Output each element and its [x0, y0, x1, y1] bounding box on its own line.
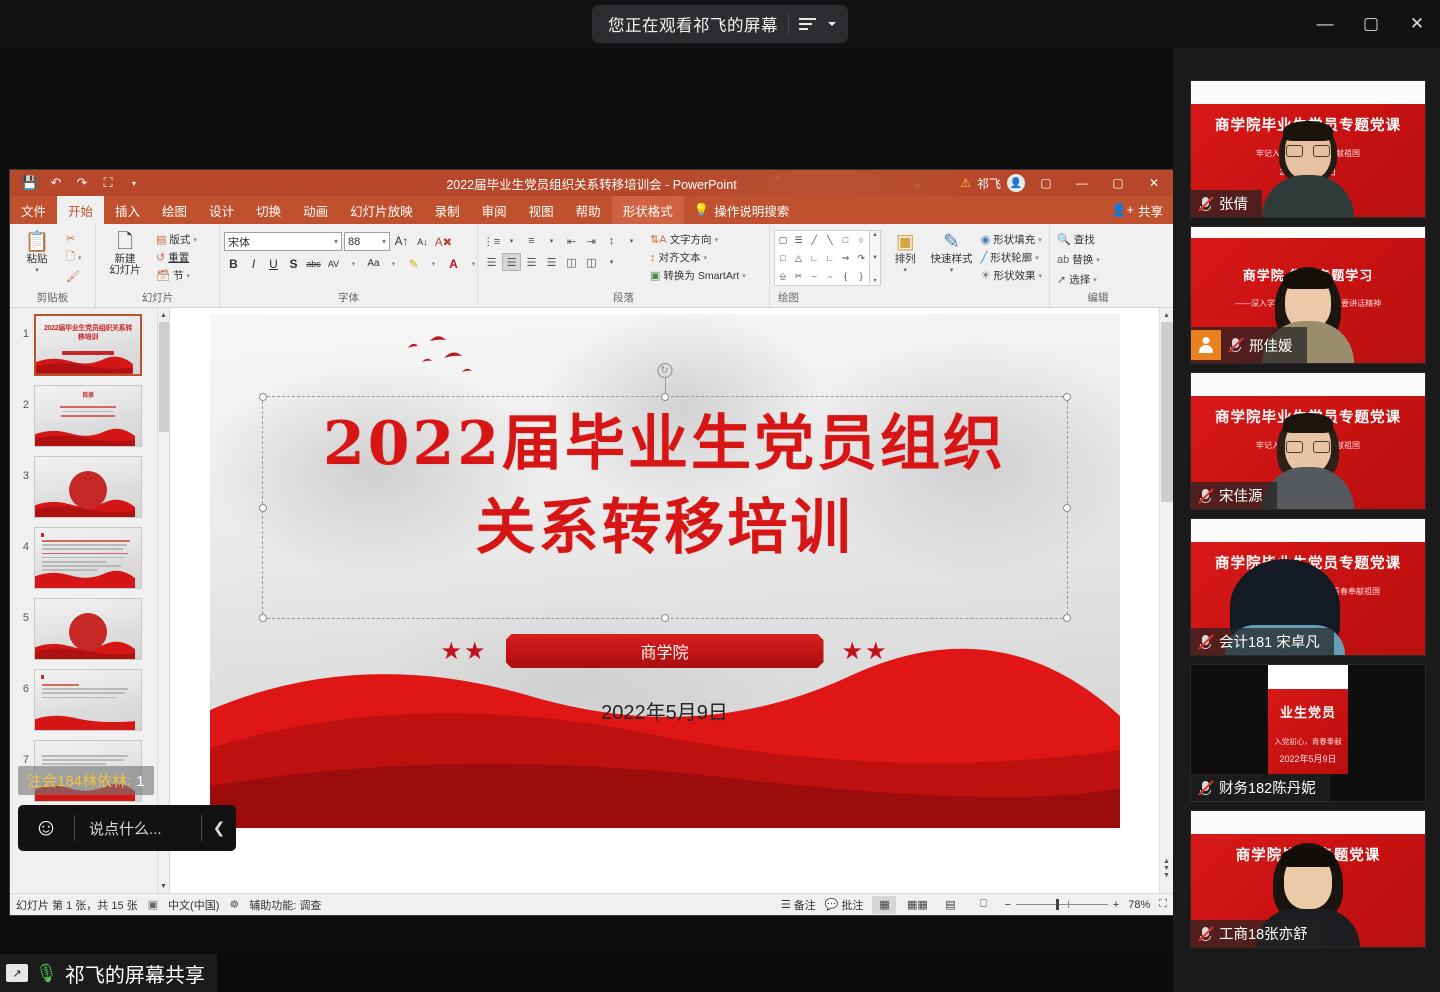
- find-label: 查找: [1074, 232, 1095, 247]
- tab-animations[interactable]: 动画: [292, 196, 339, 224]
- rotate-handle-icon[interactable]: ↻: [657, 363, 672, 378]
- participant-label: 财务182陈丹妮: [1191, 774, 1330, 801]
- share-person-icon: 👤+: [1111, 203, 1134, 218]
- zoom-top-bar: 您正在观看祁飞的屏幕 — ▢ ✕: [0, 0, 1440, 48]
- section-icon: 🗃: [156, 269, 170, 282]
- resize-handle-nw[interactable]: [259, 393, 267, 401]
- ribbon-display-options-icon[interactable]: ▢: [1031, 170, 1061, 196]
- shape-rect-icon[interactable]: □: [843, 235, 848, 245]
- change-case-button[interactable]: Aa: [364, 254, 383, 273]
- participant-tile[interactable]: 商学院 集中专题学习 ——深入学习 大学考察时的重要讲话精神 邢佳媛: [1190, 226, 1426, 364]
- bg-slide-sub: 入党初心，青春奉献: [1268, 736, 1348, 747]
- shadow-button[interactable]: S: [284, 254, 303, 273]
- participant-tile[interactable]: 商学院毕业 专题党课 牢记入党 祖国 2 工商18张亦舒: [1190, 810, 1426, 948]
- shape-rect2-icon[interactable]: □: [780, 253, 785, 263]
- mute-microphone-icon: [1197, 779, 1213, 797]
- shape-oval-icon[interactable]: ○: [858, 235, 863, 245]
- zoom-level-label[interactable]: 78%: [1128, 899, 1150, 911]
- bg-slide-date: 2022年5月9日: [1268, 752, 1348, 765]
- participant-video-strip: 商学院毕业生党员专题党课 牢记入党初心，青春奉献祖国 2022年5月9日 张倩: [1173, 48, 1440, 992]
- shape-arc-icon[interactable]: ⌣: [811, 271, 817, 282]
- arrange-label: 排列: [895, 254, 916, 265]
- quick-styles-icon: ✎: [943, 231, 960, 253]
- thumb-heading-marker: [41, 675, 44, 679]
- participant-name: 会计181 宋卓凡: [1219, 631, 1320, 652]
- copy-button[interactable]: 🗋▾: [63, 247, 84, 268]
- layout-icon: ▤: [156, 233, 166, 246]
- zoom-track[interactable]: [1016, 904, 1108, 905]
- search-icon: 🔍: [1057, 233, 1071, 246]
- powerpoint-window: 💾 ↶ ↷ ⛶ ▾ 2022届毕业生党员组织关系转移培训会 - PowerPoi…: [10, 170, 1173, 915]
- resize-handle-ne[interactable]: [1063, 393, 1071, 401]
- notes-label: 备注: [794, 897, 816, 913]
- quick-styles-label: 快速样式: [930, 254, 972, 265]
- ribbon: 📋 粘贴 ▾ ✂ 🗋▾ 🖌 剪贴板: [10, 224, 1173, 308]
- slide-count-label: 幻灯片 第 1 张，共 15 张: [16, 897, 138, 913]
- font-size-combobox[interactable]: 88 ▾: [344, 232, 390, 251]
- arrange-icon: ▣: [896, 231, 915, 253]
- viewing-screen-pill[interactable]: 您正在观看祁飞的屏幕: [592, 5, 848, 43]
- start-presentation-icon[interactable]: ⛶: [96, 173, 120, 193]
- shapes-gallery[interactable]: ▢ ☰ ╱ ╲ □ ○ □ △ ∟ ∟ ⇒ ↷: [774, 230, 870, 286]
- zoom-out-button[interactable]: −: [1004, 899, 1010, 911]
- participant-label: 会计181 宋卓凡: [1191, 628, 1334, 655]
- shape-triangle-icon[interactable]: △: [795, 253, 802, 264]
- ribbon-group-label: 字体: [224, 290, 473, 307]
- slide-thumbnail-6[interactable]: 6: [10, 669, 169, 740]
- chevron-down-icon[interactable]: ▾: [35, 266, 39, 274]
- layout-label: 版式: [169, 232, 190, 247]
- ribbon-group-clipboard: 📋 粘贴 ▾ ✂ 🗋▾ 🖌 剪贴板: [10, 224, 96, 307]
- shape-textbox-icon[interactable]: ▢: [779, 235, 788, 246]
- chevron-down-icon: ▾: [334, 237, 338, 246]
- screen-share-label: 祁飞的屏幕共享: [65, 959, 205, 988]
- resize-handle-w[interactable]: [259, 504, 267, 512]
- tab-record[interactable]: 录制: [424, 196, 471, 224]
- shape-fill-button[interactable]: ◉形状填充▾: [978, 231, 1045, 248]
- new-slide-label: 新建幻灯片: [109, 254, 141, 276]
- viewing-screen-label: 您正在观看祁飞的屏幕: [608, 12, 778, 36]
- ribbon-group-editing: 🔍查找 ab替换▾ ➚选择▾ 编辑: [1050, 224, 1146, 307]
- mute-microphone-icon: [1227, 336, 1243, 354]
- ppt-close-button[interactable]: ✕: [1139, 170, 1169, 196]
- accessibility-label[interactable]: 辅助功能: 调查: [249, 897, 321, 913]
- ribbon-group-font: 宋体 ▾ 88 ▾ A↑ A↓ A✖ B: [220, 224, 478, 307]
- ppt-minimize-button[interactable]: —: [1067, 170, 1097, 196]
- font-size-value: 88: [348, 236, 360, 248]
- smartart-icon: ▣: [650, 269, 660, 282]
- scroll-down-icon[interactable]: ▼: [872, 255, 878, 261]
- fit-to-window-icon[interactable]: ⛶: [1159, 898, 1167, 911]
- justify-icon[interactable]: ☰: [542, 253, 561, 271]
- mute-microphone-icon: [1197, 925, 1213, 943]
- screen-root: 您正在观看祁飞的屏幕 — ▢ ✕ 💾 ↶ ↷ ⛶ ▾ 2022届毕业生党员组: [0, 0, 1440, 992]
- slide-thumbnail-card[interactable]: [34, 456, 142, 518]
- slide-number: 7: [14, 740, 29, 766]
- columns-icon[interactable]: ◫: [562, 253, 581, 271]
- format-painter-button[interactable]: 🖌: [63, 269, 84, 284]
- canvas-scroll-buttons: ▲ ▼ ▼: [1160, 858, 1173, 879]
- undo-icon[interactable]: ↶: [44, 173, 68, 193]
- account-name[interactable]: 祁飞: [977, 175, 1001, 192]
- shape-scissors-icon[interactable]: ✂: [795, 271, 803, 282]
- ribbon-group-label: 绘图: [774, 290, 1045, 307]
- status-bar-right: ☰ 备注 💬 批注 ▦ ▦▦ ▤ ⎕ −: [781, 896, 1167, 914]
- layout-button[interactable]: ▤版式▾: [153, 231, 200, 248]
- grow-font-icon[interactable]: A↑: [392, 232, 411, 251]
- quick-styles-button[interactable]: ✎ 快速样式 ▾: [929, 228, 973, 274]
- next-slide-icon[interactable]: ▼: [1163, 865, 1170, 872]
- shape-line-icon[interactable]: ╱: [811, 235, 816, 246]
- normal-view-icon[interactable]: ▦: [872, 896, 896, 914]
- user-avatar-icon: [1191, 330, 1221, 360]
- chevron-down-icon: [828, 22, 836, 26]
- thumb-circle-graphic: [69, 471, 107, 509]
- new-slide-button[interactable]: 🗋 新建幻灯片: [100, 228, 150, 276]
- microphone-icon[interactable]: 🎙: [35, 963, 58, 984]
- ribbon-group-paragraph: ⋮≡ ▾ ≡ ▾ ⇤ ⇥ ↕ ▾ ☰ ☰: [478, 224, 770, 307]
- font-color-icon[interactable]: A: [444, 254, 463, 273]
- new-slide-icon: 🗋: [117, 231, 133, 253]
- font-name-value: 宋体: [228, 234, 250, 250]
- shape-line2-icon[interactable]: ╲: [827, 235, 832, 246]
- chevron-down-icon: ▾: [382, 237, 386, 246]
- bold-button[interactable]: B: [224, 254, 243, 273]
- thumb-circle-graphic: [69, 613, 107, 651]
- slide-date-text[interactable]: 2022年5月9日: [210, 696, 1120, 725]
- shape-flowchart-icon[interactable]: ⎒: [779, 271, 786, 282]
- more-shapes-icon[interactable]: ▾: [873, 277, 876, 284]
- thumb-banner: [62, 351, 114, 355]
- align-center-icon[interactable]: ☰: [502, 253, 521, 271]
- tell-me-search[interactable]: 💡 操作说明搜索: [684, 196, 800, 224]
- participant-label: 张倩: [1191, 190, 1262, 217]
- participant-name: 工商18张亦舒: [1219, 923, 1308, 944]
- chat-input-placeholder[interactable]: 说点什么...: [75, 818, 201, 839]
- underline-button[interactable]: U: [264, 254, 283, 273]
- shape-arc2-icon[interactable]: ⌢: [827, 271, 833, 282]
- arrange-button[interactable]: ▣ 排列 ▾: [885, 228, 925, 274]
- copy-icon: 🗋: [66, 248, 75, 267]
- shape-outline-label: 形状轮廓: [990, 250, 1032, 265]
- reading-view-icon[interactable]: ▤: [938, 896, 962, 914]
- tell-me-label: 操作说明搜索: [714, 201, 789, 220]
- increase-indent-icon[interactable]: ⇥: [582, 232, 601, 250]
- mute-microphone-icon: [1197, 633, 1213, 651]
- zoom-thumb[interactable]: [1056, 899, 1059, 910]
- ribbon-group-label: 段落: [482, 290, 765, 307]
- paste-icon: 📋: [25, 231, 50, 253]
- close-button[interactable]: ✕: [1394, 0, 1440, 48]
- scroll-down-icon[interactable]: ▼: [1163, 872, 1170, 879]
- scissors-icon: ✂: [66, 232, 75, 245]
- selection-bounding-box[interactable]: ↻: [262, 396, 1068, 619]
- chevron-down-icon[interactable]: ▾: [502, 232, 521, 250]
- powerpoint-status-bar: 幻灯片 第 1 张，共 15 张 ▣ 中文(中国) ☸ 辅助功能: 调查 ☰ 备…: [10, 893, 1173, 915]
- quick-access-toolbar: 💾 ↶ ↷ ⛶ ▾: [10, 173, 146, 193]
- slide-thumbnail-card[interactable]: [34, 669, 142, 731]
- tab-view[interactable]: 视图: [518, 196, 565, 224]
- accessibility-check-icon[interactable]: ▣: [148, 898, 158, 911]
- align-right-icon[interactable]: ☰: [522, 253, 541, 271]
- participant-name: 宋佳源: [1219, 485, 1263, 506]
- slideshow-icon[interactable]: ⎕: [971, 896, 995, 914]
- tab-draw[interactable]: 绘图: [151, 196, 198, 224]
- chevron-down-icon[interactable]: ▾: [384, 254, 403, 273]
- bg-slide-header: 业生党员: [1268, 702, 1348, 721]
- lightbulb-icon: 💡: [694, 203, 710, 218]
- ppt-restore-button[interactable]: ▢: [1103, 170, 1133, 196]
- ribbon-group-label: 编辑: [1054, 290, 1142, 307]
- notes-icon: ☰: [781, 898, 791, 911]
- maximize-button[interactable]: ▢: [1348, 0, 1394, 48]
- tab-insert[interactable]: 插入: [104, 196, 151, 224]
- shrink-font-icon[interactable]: A↓: [413, 232, 432, 251]
- screen-share-status-bar: ↗ 🎙 祁飞的屏幕共享: [0, 954, 217, 992]
- participant-label: 工商18张亦舒: [1191, 920, 1322, 947]
- shape-brace2-icon[interactable]: }: [860, 271, 863, 281]
- powerpoint-title-bar: 💾 ↶ ↷ ⛶ ▾ 2022届毕业生党员组织关系转移培训会 - PowerPoi…: [10, 170, 1173, 196]
- slide-thumbnail-5[interactable]: 5: [10, 598, 169, 669]
- participant-name: 张倩: [1219, 193, 1248, 214]
- warning-triangle-icon[interactable]: ⚠: [960, 176, 971, 190]
- zoom-tick: [1068, 901, 1069, 908]
- thumb-title: 目录: [41, 392, 135, 401]
- screen-share-icon: ↗: [6, 964, 28, 982]
- slide-number: 2: [14, 385, 29, 411]
- ribbon-tab-bar: 绘图工具 文件 开始 插入 绘图 设计 切换 动画 幻灯片放映 录制 审阅 视图…: [10, 196, 1173, 224]
- accessibility-icon: ☸: [229, 898, 239, 911]
- chevron-left-icon[interactable]: ❮: [202, 819, 236, 837]
- chevron-down-icon[interactable]: ▾: [344, 254, 363, 273]
- emoji-smile-icon[interactable]: ☺: [18, 814, 74, 842]
- scrollbar-thumb[interactable]: [1161, 322, 1173, 502]
- align-text-button[interactable]: ↕对齐文本▾: [647, 249, 749, 266]
- scroll-down-icon[interactable]: ▼: [158, 879, 169, 893]
- notes-button[interactable]: ☰ 备注: [781, 897, 816, 913]
- character-spacing-button[interactable]: AV: [324, 254, 343, 273]
- line-spacing-icon[interactable]: ↕: [602, 232, 621, 250]
- participant-label: 邢佳媛: [1191, 327, 1307, 363]
- tab-shape-format[interactable]: 形状格式: [612, 196, 684, 224]
- redo-icon[interactable]: ↷: [70, 173, 94, 193]
- zoom-in-button[interactable]: +: [1113, 899, 1119, 911]
- select-label: 选择: [1069, 272, 1090, 287]
- shape-lines-icon[interactable]: ☰: [794, 235, 802, 246]
- reset-icon: ↺: [156, 251, 165, 264]
- shape-curvedarrow-icon[interactable]: ↷: [857, 253, 865, 264]
- shape-fill-icon: ◉: [981, 233, 991, 246]
- minimize-button[interactable]: —: [1302, 0, 1348, 48]
- canvas-scrollbar[interactable]: ▲ ▲ ▼ ▼: [1159, 308, 1173, 893]
- ribbon-group-drawing: ▢ ☰ ╱ ╲ □ ○ □ △ ∟ ∟ ⇒ ↷: [770, 224, 1050, 307]
- tab-transitions[interactable]: 切换: [245, 196, 292, 224]
- slide-number: 3: [14, 456, 29, 482]
- text-highlight-icon[interactable]: ✎: [404, 254, 423, 273]
- thumb-heading-marker: [41, 533, 44, 537]
- slide-thumbnail-2[interactable]: 2 目录: [10, 385, 169, 456]
- window-controls: — ▢ ✕: [1302, 0, 1440, 48]
- chevron-down-icon[interactable]: ▾: [602, 253, 621, 271]
- participant-label: 宋佳源: [1191, 482, 1277, 509]
- shape-effects-icon: ☀: [981, 269, 991, 282]
- clear-formatting-icon[interactable]: A✖: [434, 232, 453, 251]
- align-left-icon[interactable]: ☰: [482, 253, 501, 271]
- red-wave-graphic: [35, 426, 135, 446]
- replace-button[interactable]: ab替换▾: [1054, 251, 1103, 268]
- cursor-select-icon: ➚: [1057, 273, 1066, 286]
- slide-thumbnail-card[interactable]: [34, 598, 142, 660]
- share-button[interactable]: 👤+ 共享: [1111, 196, 1173, 224]
- shared-screen-region: 💾 ↶ ↷ ⛶ ▾ 2022届毕业生党员组织关系转移培训会 - PowerPoi…: [0, 48, 1173, 954]
- align-text-label: 对齐文本: [659, 250, 701, 265]
- chevron-down-icon[interactable]: ▾: [542, 232, 561, 250]
- resize-handle-e[interactable]: [1063, 504, 1071, 512]
- shape-effects-button[interactable]: ☀形状效果▾: [978, 267, 1045, 284]
- red-wave-graphic: [36, 354, 133, 374]
- share-label: 共享: [1138, 201, 1163, 220]
- shape-corner2-icon[interactable]: ∟: [825, 253, 834, 263]
- stars-left: ★★: [440, 637, 487, 666]
- text-direction-icon: ⇅A: [650, 233, 667, 246]
- slide-number: 1: [14, 314, 29, 340]
- decrease-indent-icon[interactable]: ⇤: [562, 232, 581, 250]
- replace-label: 替换: [1072, 252, 1093, 267]
- shape-outline-icon: ╱: [981, 251, 988, 264]
- select-button[interactable]: ➚选择▾: [1054, 271, 1103, 288]
- tab-home[interactable]: 开始: [57, 196, 104, 224]
- ribbon-group-label: 幻灯片: [100, 290, 215, 307]
- scroll-up-icon[interactable]: ▲: [1160, 308, 1173, 322]
- tab-slideshow[interactable]: 幻灯片放映: [339, 196, 424, 224]
- paste-button[interactable]: 📋 粘贴 ▾: [14, 228, 60, 274]
- chevron-down-icon[interactable]: ▾: [622, 232, 641, 250]
- comments-button[interactable]: 💬 批注: [825, 897, 864, 913]
- slide-sorter-icon[interactable]: ▦▦: [905, 896, 929, 914]
- shape-fill-label: 形状填充: [993, 232, 1035, 247]
- resize-handle-s[interactable]: [661, 614, 669, 622]
- chevron-down-icon: ▾: [78, 254, 82, 262]
- zoom-slider[interactable]: − +: [1004, 899, 1119, 911]
- paste-label: 粘贴: [27, 254, 48, 265]
- customize-qat-icon[interactable]: ▾: [122, 173, 146, 193]
- scroll-up-icon[interactable]: ▲: [872, 232, 878, 238]
- stars-right: ★★: [842, 637, 889, 666]
- participant-name: 邢佳媛: [1249, 335, 1293, 356]
- align-text-icon: ↕: [650, 252, 656, 264]
- resize-handle-se[interactable]: [1063, 614, 1071, 622]
- scroll-up-icon[interactable]: ▲: [158, 308, 169, 322]
- reset-label: 重置: [168, 250, 189, 265]
- slide-canvas-area[interactable]: 2022届毕业生党员组织 关系转移培训 ↻: [170, 308, 1159, 893]
- shape-arrow-icon[interactable]: ⇒: [842, 253, 850, 264]
- slide-thumbnail-card[interactable]: [34, 527, 142, 589]
- tab-file[interactable]: 文件: [10, 196, 57, 224]
- reset-button[interactable]: ↺重置: [153, 249, 200, 266]
- slide-thumbnail-card[interactable]: 2022届毕业生党员组织关系转移培训: [34, 314, 142, 376]
- department-badge-row: ★★ 商学院 ★★: [210, 634, 1120, 668]
- strikethrough-button[interactable]: abc: [304, 254, 323, 273]
- slide-number: 6: [14, 669, 29, 695]
- slide-number: 5: [14, 598, 29, 624]
- participant-person: [1261, 121, 1355, 217]
- comments-label: 批注: [841, 897, 863, 913]
- red-wave-graphic: [35, 710, 135, 730]
- tab-help[interactable]: 帮助: [565, 196, 612, 224]
- text-direction-label: 文字方向: [670, 232, 712, 247]
- resize-handle-sw[interactable]: [259, 614, 267, 622]
- slide-thumbnail-4[interactable]: 4: [10, 527, 169, 598]
- italic-button[interactable]: I: [244, 254, 263, 273]
- hamburger-menu-icon[interactable]: [799, 18, 816, 30]
- shape-effects-label: 形状效果: [993, 268, 1035, 283]
- font-name-combobox[interactable]: 宋体 ▾: [224, 232, 342, 251]
- section-button[interactable]: 🗃节▾: [153, 267, 200, 284]
- mute-microphone-icon: [1197, 487, 1213, 505]
- shapes-gallery-scrollbar[interactable]: ▲ ▼ ▾: [870, 230, 881, 286]
- tab-review[interactable]: 审阅: [471, 196, 518, 224]
- chat-message: 注会184林依林: 1: [18, 766, 154, 795]
- slide-thumbnail-3[interactable]: 3: [10, 456, 169, 527]
- section-label: 节: [173, 268, 184, 283]
- chat-input-bar[interactable]: ☺ 说点什么... ❮: [18, 805, 236, 851]
- mute-microphone-icon: [1197, 195, 1213, 213]
- title-bar-right: ⚠ 祁飞 👤 ▢ — ▢ ✕: [960, 170, 1173, 196]
- chat-message-text: 1: [136, 773, 144, 790]
- shape-outline-button[interactable]: ╱形状轮廓▾: [978, 249, 1045, 266]
- participant-tile[interactable]: 商学院毕业生党员专题党课 青春奉献祖国 会计181 宋卓凡: [1190, 518, 1426, 656]
- participant-name: 财务182陈丹妮: [1219, 777, 1316, 798]
- bullets-icon[interactable]: ⋮≡: [482, 232, 501, 250]
- slide-thumbnail-card[interactable]: 目录: [34, 385, 142, 447]
- slide-number: 4: [14, 527, 29, 553]
- replace-icon: ab: [1057, 254, 1069, 266]
- numbering-icon[interactable]: ≡: [522, 232, 541, 250]
- comment-bubble-icon: 💬: [825, 898, 839, 911]
- cut-button[interactable]: ✂: [63, 231, 84, 246]
- participant-tile[interactable]: 商学院毕业生党员专题党课 牢记入党初心，青春奉献祖国 2022年5月9日 宋佳源: [1190, 372, 1426, 510]
- pill-divider: [788, 13, 789, 35]
- department-banner[interactable]: 商学院: [506, 634, 824, 668]
- current-slide[interactable]: 2022届毕业生党员组织 关系转移培训 ↻: [210, 314, 1120, 828]
- chat-message-author: 注会184林依林:: [27, 770, 131, 791]
- tab-design[interactable]: 设计: [198, 196, 245, 224]
- find-button[interactable]: 🔍查找: [1054, 231, 1103, 248]
- text-direction-button[interactable]: ⇅A文字方向▾: [647, 231, 749, 248]
- format-painter-icon: 🖌: [66, 270, 80, 283]
- resize-handle-n[interactable]: [661, 393, 669, 401]
- shape-corner-icon[interactable]: ∟: [810, 253, 819, 263]
- participant-tile[interactable]: 业生党员 入党初心，青春奉献 2022年5月9日 财务182陈丹妮: [1190, 664, 1426, 802]
- slide-thumbnail-1[interactable]: 1 2022届毕业生党员组织关系转移培训: [10, 314, 169, 385]
- language-label[interactable]: 中文(中国): [168, 897, 219, 913]
- text-columns-icon[interactable]: ◫: [582, 253, 601, 271]
- chevron-down-icon[interactable]: ▾: [424, 254, 443, 273]
- ribbon-group-label: 剪贴板: [14, 290, 91, 307]
- ribbon-group-slides: 🗋 新建幻灯片 ▤版式▾ ↺重置 🗃节▾ 幻灯片: [96, 224, 220, 307]
- convert-smartart-button[interactable]: ▣转换为 SmartArt▾: [647, 267, 749, 284]
- user-avatar-icon[interactable]: 👤: [1007, 174, 1025, 192]
- smartart-label: 转换为 SmartArt: [663, 268, 739, 283]
- participant-tile[interactable]: 商学院毕业生党员专题党课 牢记入党初心，青春奉献祖国 2022年5月9日 张倩: [1190, 80, 1426, 218]
- save-icon[interactable]: 💾: [18, 173, 42, 193]
- flying-birds-graphic: [400, 336, 510, 391]
- shape-brace-icon[interactable]: {: [844, 271, 847, 281]
- previous-slide-icon[interactable]: ▲: [1163, 858, 1170, 865]
- scrollbar-thumb[interactable]: [159, 322, 169, 432]
- thumb-title: 2022届毕业生党员组织关系转移培训: [42, 324, 134, 342]
